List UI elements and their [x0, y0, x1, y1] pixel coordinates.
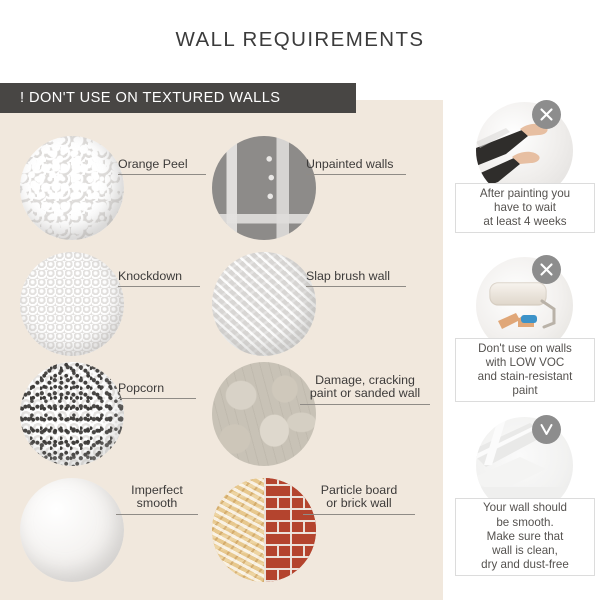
label-underline: [116, 514, 198, 515]
label-underline: [306, 286, 406, 287]
label-imperfect-smooth: Imperfect smooth: [116, 470, 198, 528]
label-popcorn: Popcorn: [118, 368, 196, 413]
label-slap-brush-wall-text: Slap brush wall: [306, 269, 390, 283]
label-underline: [118, 174, 206, 175]
label-damage-cracking-text: Damage, cracking paint or sanded wall: [310, 373, 420, 401]
label-particle-board-brick-text: Particle board or brick wall: [321, 483, 397, 511]
label-popcorn-text: Popcorn: [118, 381, 164, 395]
requirement-panel-3: Your wall should be smooth. Make sure th…: [455, 415, 595, 590]
check-glyph: [538, 421, 555, 438]
swatch-particle-board-brick: [212, 478, 316, 582]
requirement-panel-2: Don't use on walls with LOW VOC and stai…: [455, 255, 595, 415]
label-underline: [306, 174, 406, 175]
label-unpainted-walls-text: Unpainted walls: [306, 157, 393, 171]
cross-icon: [532, 100, 561, 129]
swatch-unpainted-walls: [212, 136, 316, 240]
label-slap-brush-wall: Slap brush wall: [306, 256, 406, 301]
swatch-popcorn: [20, 362, 124, 466]
page-title: WALL REQUIREMENTS: [0, 28, 600, 52]
label-orange-peel: Orange Peel: [118, 144, 206, 189]
warning-banner-label: ! DON'T USE ON TEXTURED WALLS: [0, 90, 280, 106]
requirement-caption-1: After painting you have to wait at least…: [455, 183, 595, 233]
infographic-page: WALL REQUIREMENTS ! DON'T USE ON TEXTURE…: [0, 0, 600, 600]
cross-icon: [532, 255, 561, 284]
requirement-panel-1: After painting you have to wait at least…: [455, 100, 595, 245]
swatch-knockdown: [20, 252, 124, 356]
label-imperfect-smooth-text: Imperfect smooth: [131, 483, 183, 511]
warning-banner: ! DON'T USE ON TEXTURED WALLS: [0, 83, 356, 113]
label-underline: [303, 514, 415, 515]
swatch-imperfect-smooth: [20, 478, 124, 582]
requirement-caption-3: Your wall should be smooth. Make sure th…: [455, 498, 595, 576]
label-orange-peel-text: Orange Peel: [118, 157, 188, 171]
label-unpainted-walls: Unpainted walls: [306, 144, 406, 189]
label-knockdown: Knockdown: [118, 256, 200, 301]
check-icon: [532, 415, 561, 444]
label-damage-cracking: Damage, cracking paint or sanded wall: [300, 360, 430, 418]
cross-glyph: [539, 107, 554, 122]
label-underline: [300, 404, 430, 405]
swatch-orange-peel: [20, 136, 124, 240]
requirement-caption-2: Don't use on walls with LOW VOC and stai…: [455, 338, 595, 402]
label-knockdown-text: Knockdown: [118, 269, 182, 283]
particle-board-half: [212, 478, 264, 582]
cross-glyph: [539, 262, 554, 277]
label-underline: [118, 286, 200, 287]
label-underline: [118, 398, 196, 399]
label-particle-board-brick: Particle board or brick wall: [303, 470, 415, 528]
swatch-slap-brush: [212, 252, 316, 356]
